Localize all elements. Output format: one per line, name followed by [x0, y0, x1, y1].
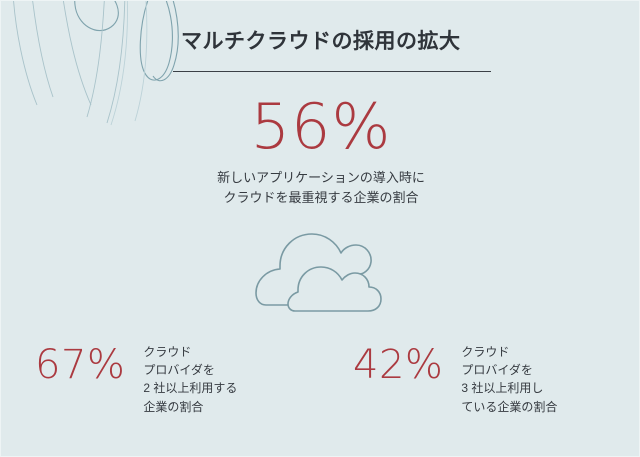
stat-value-left: 67%	[35, 341, 125, 385]
stat-caption-right: クラウド プロバイダを 3 社以上利用し ている企業の割合	[461, 341, 557, 416]
stat-block-left: 67% クラウド プロバイダを 2 社以上利用する 企業の割合	[35, 341, 237, 416]
stat-value-right: 42%	[353, 341, 443, 385]
two-clouds-icon	[244, 229, 384, 317]
slide-title: マルチクラウドの採用の拡大	[181, 25, 461, 55]
hero-stat: 56% 新しいアプリケーションの導入時に クラウドを最重視する企業の割合	[1, 96, 640, 208]
hero-stat-caption: 新しいアプリケーションの導入時に クラウドを最重視する企業の割合	[1, 168, 640, 208]
hero-stat-value: 56%	[1, 96, 640, 158]
slide-canvas: マルチクラウドの採用の拡大 56% 新しいアプリケーションの導入時に クラウドを…	[0, 0, 640, 457]
stat-caption-left: クラウド プロバイダを 2 社以上利用する 企業の割合	[143, 341, 237, 416]
stat-block-right: 42% クラウド プロバイダを 3 社以上利用し ている企業の割合	[353, 341, 557, 416]
title-divider	[173, 71, 491, 72]
